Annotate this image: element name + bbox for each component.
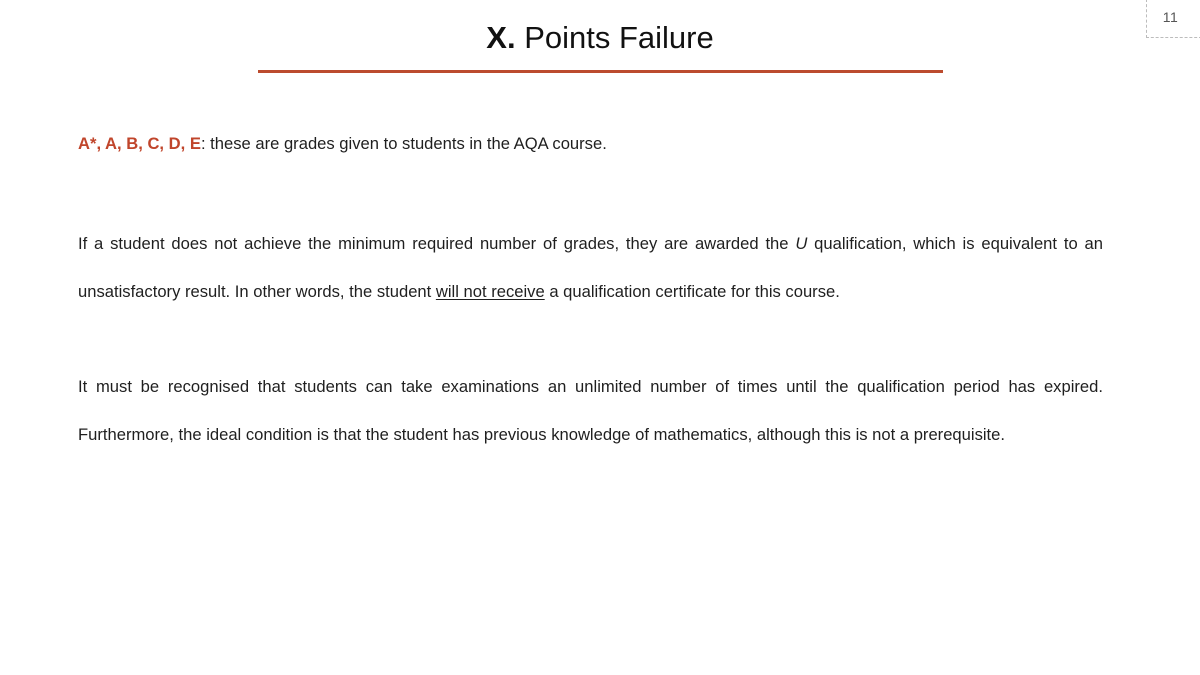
paragraph-grades: A*, A, B, C, D, E: these are grades give… — [78, 120, 1103, 168]
slide-canvas: 11 X. Points Failure A*, A, B, C, D, E: … — [0, 0, 1200, 675]
u-qualification-part-1: If a student does not achieve the minimu… — [78, 234, 795, 253]
title-underline-rule — [258, 70, 943, 73]
u-grade-emphasis: U — [795, 234, 807, 253]
will-not-receive-emphasis: will not receive — [436, 282, 545, 301]
title-numeral: X. — [486, 20, 515, 55]
grades-list: A*, A, B, C, D, E — [78, 134, 201, 153]
u-qualification-part-3: a qualification certificate for this cou… — [545, 282, 840, 301]
slide-body: A*, A, B, C, D, E: these are grades give… — [78, 120, 1103, 459]
paragraph-u-qualification: If a student does not achieve the minimu… — [78, 220, 1103, 316]
grades-description: : these are grades given to students in … — [201, 134, 607, 153]
title-text: Points Failure — [516, 20, 714, 55]
page-title: X. Points Failure — [0, 22, 1200, 55]
paragraph-examinations: It must be recognised that students can … — [78, 363, 1103, 459]
slide-title-block: X. Points Failure — [0, 22, 1200, 55]
